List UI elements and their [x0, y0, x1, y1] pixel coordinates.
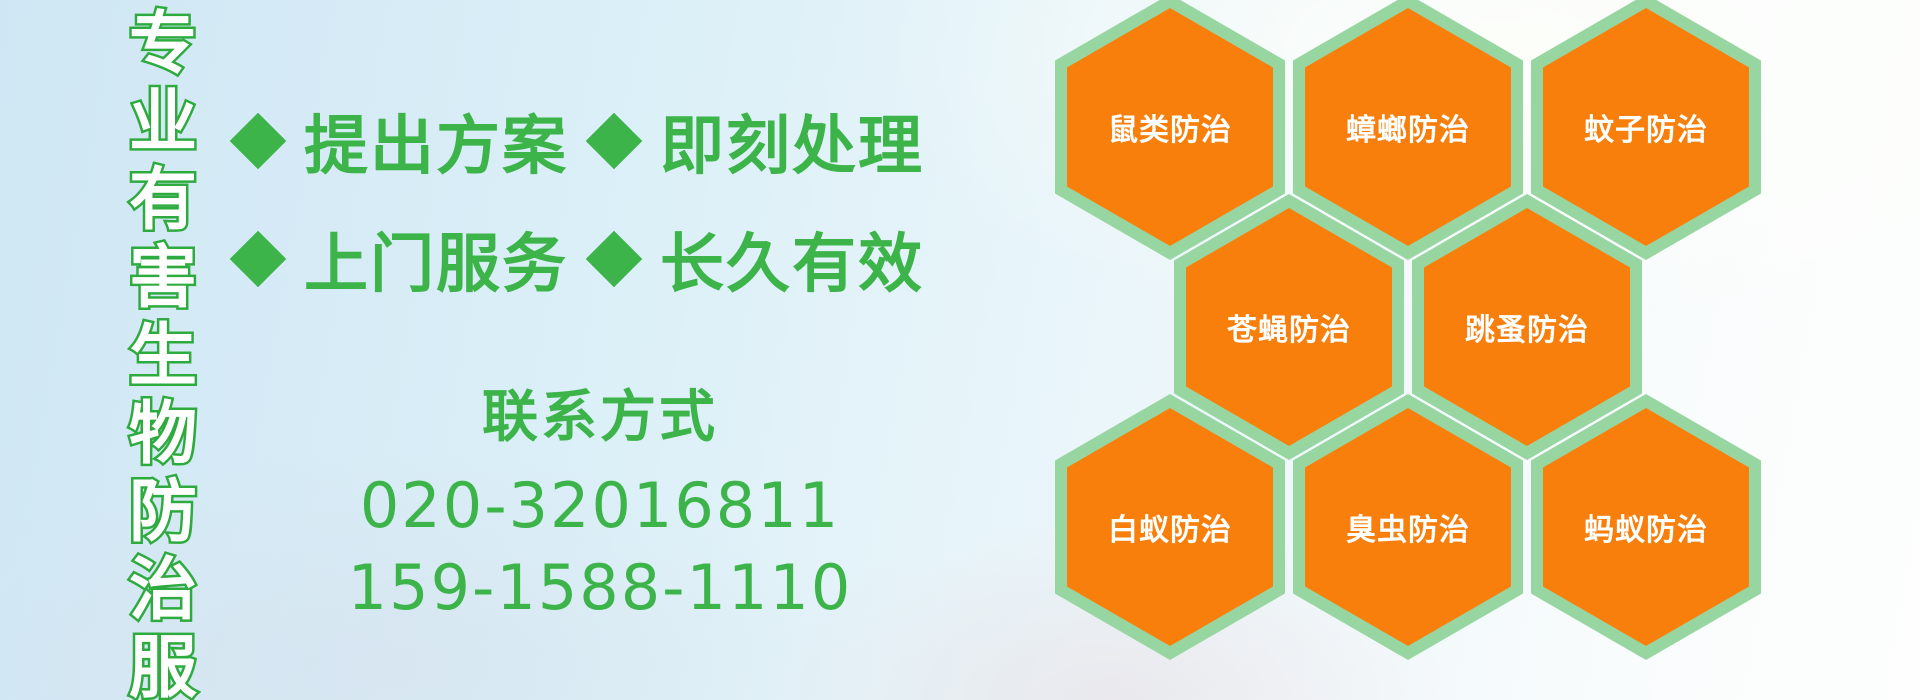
- hex-inner: 鼠类防治: [1067, 8, 1273, 246]
- hex-inner: 苍蝇防治: [1186, 208, 1392, 446]
- contact-block: 联系方式 020-32016811 159-1588-1110: [340, 382, 860, 628]
- service-label: 跳蚤防治: [1465, 305, 1589, 349]
- service-label: 臭虫防治: [1346, 505, 1470, 549]
- pest-control-promo-banner: 专 业 有 害 生 物 防 治 服 务 提出方案 即刻处理 上门服务 长久有效 …: [0, 0, 1920, 700]
- vertical-headline-char: 专: [129, 6, 197, 84]
- vertical-headline-char: 物: [129, 396, 197, 474]
- feature-label: 提出方案: [304, 95, 568, 187]
- vertical-headline-char: 业: [129, 84, 197, 162]
- feature-row: 提出方案 即刻处理: [238, 82, 924, 200]
- diamond-icon: [586, 113, 643, 170]
- hex-inner: 蟑螂防治: [1305, 8, 1511, 246]
- diamond-icon: [230, 231, 287, 288]
- vertical-headline-char: 有: [129, 162, 197, 240]
- service-label: 蚊子防治: [1584, 105, 1708, 149]
- feature-label: 长久有效: [660, 213, 924, 305]
- service-label: 鼠类防治: [1108, 105, 1232, 149]
- diamond-icon: [230, 113, 287, 170]
- service-label: 苍蝇防治: [1227, 305, 1351, 349]
- vertical-headline-char: 治: [129, 552, 197, 630]
- hex-inner: 蚊子防治: [1543, 8, 1749, 246]
- service-honeycomb: 鼠类防治 蟑螂防治 蚊子防治 苍蝇防治 跳蚤防治 白蚁防治: [1055, 0, 1855, 700]
- hex-inner: 白蚁防治: [1067, 408, 1273, 646]
- vertical-headline-char: 防: [129, 474, 197, 552]
- service-label: 蚂蚁防治: [1584, 505, 1708, 549]
- hex-inner: 臭虫防治: [1305, 408, 1511, 646]
- feature-list: 提出方案 即刻处理 上门服务 长久有效: [238, 82, 924, 318]
- service-label: 白蚁防治: [1108, 505, 1232, 549]
- feature-row: 上门服务 长久有效: [238, 200, 924, 318]
- feature-label: 即刻处理: [660, 95, 924, 187]
- contact-phone-mobile[interactable]: 159-1588-1110: [340, 548, 860, 628]
- hex-inner: 跳蚤防治: [1424, 208, 1630, 446]
- feature-label: 上门服务: [304, 213, 568, 305]
- diamond-icon: [586, 231, 643, 288]
- contact-phone-landline[interactable]: 020-32016811: [340, 466, 860, 546]
- vertical-headline-char: 服: [129, 630, 197, 700]
- vertical-headline-char: 生: [129, 318, 197, 396]
- hex-inner: 蚂蚁防治: [1543, 408, 1749, 646]
- vertical-headline-char: 害: [129, 240, 197, 318]
- service-label: 蟑螂防治: [1346, 105, 1470, 149]
- contact-title: 联系方式: [340, 382, 860, 454]
- vertical-headline: 专 业 有 害 生 物 防 治 服 务: [108, 6, 218, 696]
